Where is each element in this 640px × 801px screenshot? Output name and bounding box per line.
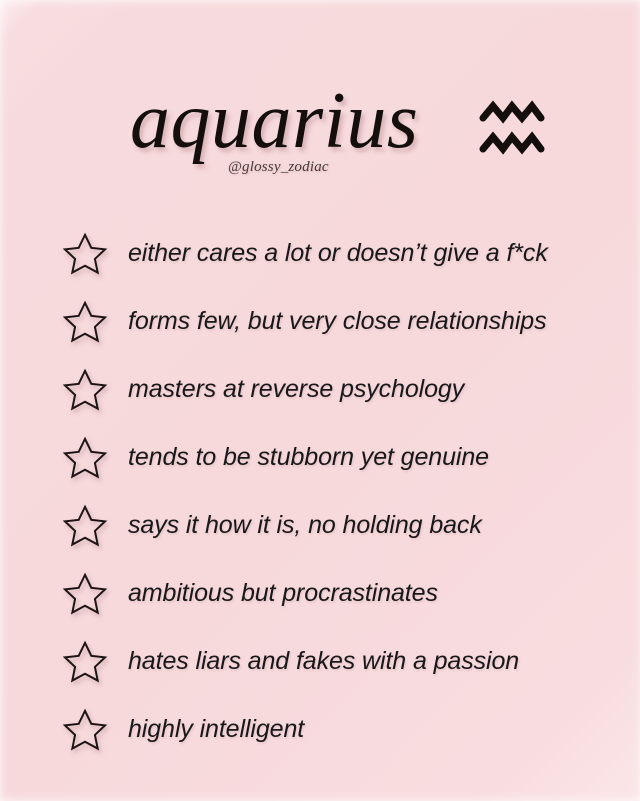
trait-text: tends to be stubborn yet genuine bbox=[128, 442, 489, 472]
list-item: either cares a lot or doesn’t give a f*c… bbox=[0, 219, 640, 287]
star-icon bbox=[64, 436, 106, 478]
trait-text: masters at reverse psychology bbox=[128, 374, 464, 404]
card-header: aquarius @glossy_zodiac bbox=[0, 78, 640, 188]
trait-text: either cares a lot or doesn’t give a f*c… bbox=[128, 238, 548, 268]
star-icon bbox=[64, 504, 106, 546]
star-icon bbox=[64, 300, 106, 342]
account-handle: @glossy_zodiac bbox=[228, 159, 329, 176]
list-item: forms few, but very close relationships bbox=[0, 287, 640, 355]
trait-text: highly intelligent bbox=[128, 714, 304, 744]
list-item: masters at reverse psychology bbox=[0, 355, 640, 423]
trait-list: either cares a lot or doesn’t give a f*c… bbox=[0, 219, 640, 763]
list-item: ambitious but procrastinates bbox=[0, 559, 640, 627]
aquarius-waves-icon bbox=[481, 104, 543, 156]
zodiac-card: aquarius @glossy_zodiac either cares a l… bbox=[0, 0, 640, 801]
trait-text: ambitious but procrastinates bbox=[128, 578, 438, 608]
trait-text: hates liars and fakes with a passion bbox=[128, 646, 519, 676]
list-item: tends to be stubborn yet genuine bbox=[0, 423, 640, 491]
list-item: hates liars and fakes with a passion bbox=[0, 627, 640, 695]
star-icon bbox=[64, 708, 106, 750]
trait-text: forms few, but very close relationships bbox=[128, 306, 547, 336]
star-icon bbox=[64, 368, 106, 410]
star-icon bbox=[64, 640, 106, 682]
trait-text: says it how it is, no holding back bbox=[128, 510, 482, 540]
list-item: says it how it is, no holding back bbox=[0, 491, 640, 559]
page-title: aquarius bbox=[130, 78, 419, 164]
star-icon bbox=[64, 572, 106, 614]
list-item: highly intelligent bbox=[0, 695, 640, 763]
star-icon bbox=[64, 232, 106, 274]
